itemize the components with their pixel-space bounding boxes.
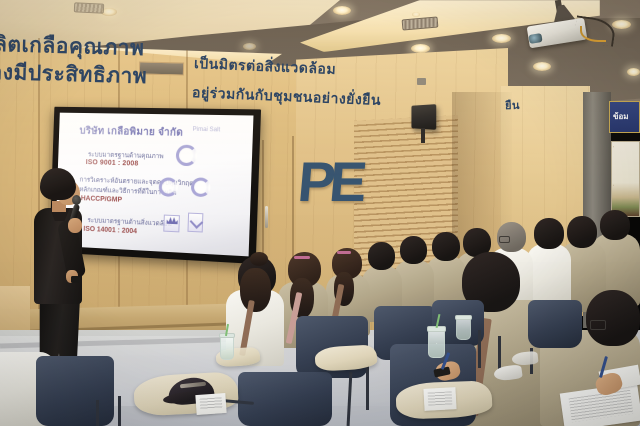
downlight (243, 43, 256, 50)
downlight (411, 44, 430, 53)
person-head (400, 236, 427, 264)
wall-sign-blue: ข้อม (609, 101, 640, 133)
presenter-hair (40, 168, 76, 200)
eyeglasses (499, 236, 510, 243)
person-head (586, 290, 640, 346)
person-head (600, 210, 630, 240)
wall-speaker (411, 104, 436, 130)
cup-lid (455, 315, 472, 320)
ac-vent (74, 2, 104, 14)
slide-bullet: ISO 9001 : 2008 (86, 159, 139, 167)
company-logo: PE (295, 155, 356, 213)
drink-cup[interactable] (220, 336, 234, 360)
chair-leg (478, 330, 481, 368)
drink-cup[interactable] (456, 318, 471, 340)
door-handle[interactable] (265, 206, 268, 228)
cert-badge-icon (175, 145, 197, 167)
downlight (333, 6, 351, 15)
handout-text (200, 397, 223, 410)
slide-title: บริษัท เกลือพิมาย จำกัด (79, 124, 183, 141)
hair-down (240, 268, 271, 312)
person-head (432, 232, 460, 261)
hair-clip (294, 256, 310, 259)
person-head (534, 218, 564, 249)
handout-text (428, 391, 453, 405)
chair-leg (366, 362, 369, 410)
presenter-hand (68, 218, 82, 233)
poster-map-graphic (613, 146, 638, 186)
downlight (612, 20, 631, 29)
chair[interactable] (36, 356, 114, 426)
cert-badge-icon (190, 177, 210, 197)
downlight (627, 68, 640, 76)
downlight (533, 62, 551, 71)
presentation-clicker[interactable] (71, 276, 79, 283)
person-head (368, 242, 395, 270)
chair[interactable] (528, 300, 582, 348)
wall-sign-label: ข้อม (613, 110, 629, 123)
microphone-head-icon (72, 195, 81, 205)
slide-title-roman: Pimai Salt (192, 127, 220, 134)
drink-cup[interactable] (428, 330, 445, 358)
wall-sensor (417, 78, 426, 85)
hair-clip (337, 251, 351, 254)
chair[interactable] (238, 372, 332, 426)
chair-leg (498, 336, 501, 370)
downlight (492, 34, 511, 43)
chair-leg (118, 396, 121, 426)
photo-scene: ลิตเกลือคุณภาพ ่างมีประสิทธิภาพ เป็นมิตร… (0, 0, 640, 426)
downlight (412, 12, 420, 17)
wall-slogan-line-2: ่างมีประสิทธิภาพ (0, 56, 148, 93)
chair-leg (96, 400, 99, 426)
wall-slogan-fragment: ยืน (505, 96, 520, 114)
hair-bun (250, 252, 268, 266)
speaker-bracket (421, 128, 425, 143)
person-head (567, 216, 597, 248)
eyeglasses (590, 320, 606, 330)
